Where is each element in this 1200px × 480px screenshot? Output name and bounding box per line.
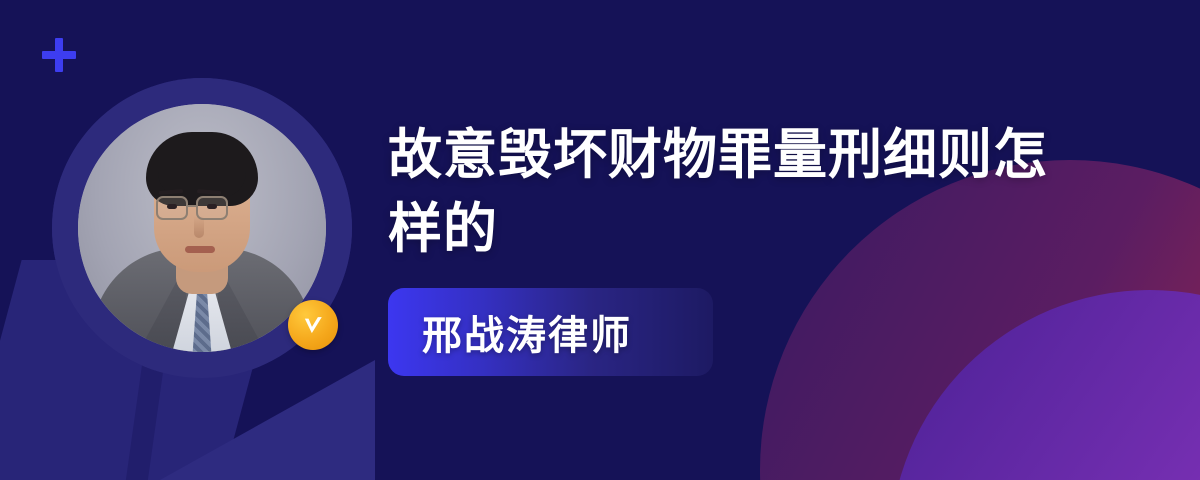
portrait-eye-left [167,204,177,209]
portrait-glasses-bridge [188,205,198,207]
promo-banner: 故意毁坏财物罪量刑细则怎样的 邢战涛律师 [0,0,1200,480]
portrait-hair [146,132,258,206]
verified-badge-icon [288,300,338,350]
triangle-wedge-shape [160,360,375,480]
portrait-nose [194,216,204,238]
avatar [52,78,352,378]
page-title: 故意毁坏财物罪量刑细则怎样的 [388,118,1068,266]
banner-content: 故意毁坏财物罪量刑细则怎样的 邢战涛律师 [388,118,1088,376]
portrait-mouth [185,246,215,253]
portrait-eye-right [207,204,217,209]
lawyer-name-button[interactable]: 邢战涛律师 [388,288,713,376]
plus-icon [40,36,78,74]
